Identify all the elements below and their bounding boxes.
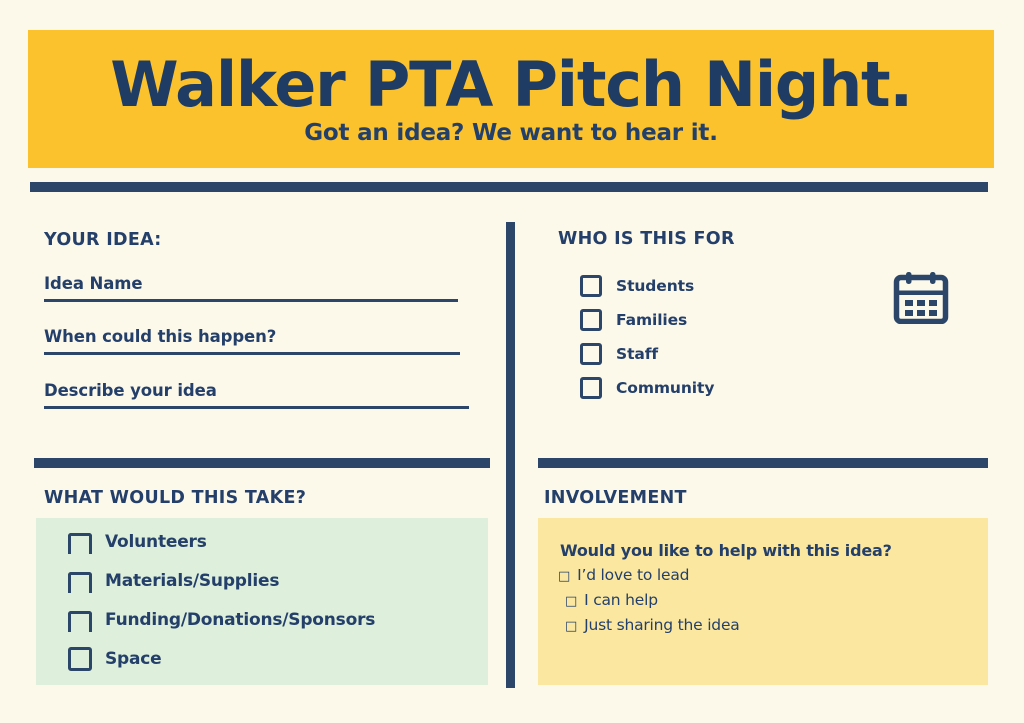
field-idea-name[interactable]: Idea Name	[44, 274, 458, 302]
divider-mid-left	[34, 458, 490, 468]
checkbox-row-community[interactable]: Community	[580, 376, 714, 399]
field-label-idea-name: Idea Name	[44, 274, 458, 299]
checkbox-row-love-to-lead[interactable]: □ I’d love to lead	[558, 566, 740, 584]
involvement-question: Would you like to help with this idea?	[560, 541, 892, 560]
field-label-describe-your-idea: Describe your idea	[44, 381, 469, 406]
checkbox-label-staff: Staff	[616, 345, 658, 363]
checkbox-label-community: Community	[616, 379, 714, 397]
checkbox-label-space: Space	[105, 649, 162, 669]
field-underline-idea-name	[44, 299, 458, 302]
needs-checkbox-list: Volunteers Materials/Supplies Funding/Do…	[68, 529, 375, 672]
checkbox-funding-donations-sponsors[interactable]	[68, 611, 92, 632]
checkbox-row-space[interactable]: Space	[68, 646, 375, 672]
checkbox-community[interactable]	[580, 377, 602, 399]
checkbox-label-funding-donations-sponsors: Funding/Donations/Sponsors	[105, 610, 375, 630]
checkbox-label-materials-supplies: Materials/Supplies	[105, 571, 279, 591]
divider-top	[30, 182, 988, 192]
checkbox-label-volunteers: Volunteers	[105, 532, 207, 552]
checkbox-families[interactable]	[580, 309, 602, 331]
checkbox-row-funding-donations-sponsors[interactable]: Funding/Donations/Sponsors	[68, 607, 375, 633]
section-heading-your-idea: YOUR IDEA:	[44, 230, 162, 250]
checkbox-row-can-help[interactable]: □ I can help	[558, 591, 740, 609]
section-heading-what-would-this-take: WHAT WOULD THIS TAKE?	[44, 488, 306, 508]
checkbox-staff[interactable]	[580, 343, 602, 365]
checkbox-label-families: Families	[616, 311, 687, 329]
poster-canvas: Walker PTA Pitch Night. Got an idea? We …	[0, 0, 1024, 723]
checkbox-can-help[interactable]: □	[565, 595, 577, 608]
page-title: Walker PTA Pitch Night.	[110, 54, 912, 122]
checkbox-label-love-to-lead: I’d love to lead	[577, 566, 689, 584]
audience-checkbox-list: Students Families Staff Community	[580, 274, 714, 399]
field-label-when-could-this-happen: When could this happen?	[44, 327, 460, 352]
header-banner: Walker PTA Pitch Night. Got an idea? We …	[28, 30, 994, 168]
field-describe-your-idea[interactable]: Describe your idea	[44, 381, 469, 409]
checkbox-row-materials-supplies[interactable]: Materials/Supplies	[68, 568, 375, 594]
checkbox-label-just-sharing-the-idea: Just sharing the idea	[584, 616, 740, 634]
field-underline-when	[44, 352, 460, 355]
checkbox-row-volunteers[interactable]: Volunteers	[68, 529, 375, 555]
checkbox-row-students[interactable]: Students	[580, 274, 714, 297]
checkbox-students[interactable]	[580, 275, 602, 297]
section-heading-involvement: INVOLVEMENT	[544, 488, 687, 508]
checkbox-row-just-sharing-the-idea[interactable]: □ Just sharing the idea	[558, 616, 740, 634]
checkbox-love-to-lead[interactable]: □	[558, 570, 570, 583]
field-when-could-this-happen[interactable]: When could this happen?	[44, 327, 460, 355]
page-subtitle: Got an idea? We want to hear it.	[304, 122, 718, 145]
checkbox-label-students: Students	[616, 277, 694, 295]
divider-vertical	[506, 222, 515, 688]
checkbox-materials-supplies[interactable]	[68, 572, 92, 593]
divider-mid-right	[538, 458, 988, 468]
calendar-icon	[893, 272, 949, 324]
checkbox-volunteers[interactable]	[68, 533, 92, 554]
involvement-option-list: □ I’d love to lead □ I can help □ Just s…	[558, 566, 740, 634]
checkbox-row-staff[interactable]: Staff	[580, 342, 714, 365]
checkbox-just-sharing-the-idea[interactable]: □	[565, 620, 577, 633]
checkbox-row-families[interactable]: Families	[580, 308, 714, 331]
checkbox-space[interactable]	[68, 647, 92, 671]
section-heading-who-is-this-for: WHO IS THIS FOR	[558, 229, 735, 249]
field-underline-describe	[44, 406, 469, 409]
checkbox-label-can-help: I can help	[584, 591, 658, 609]
